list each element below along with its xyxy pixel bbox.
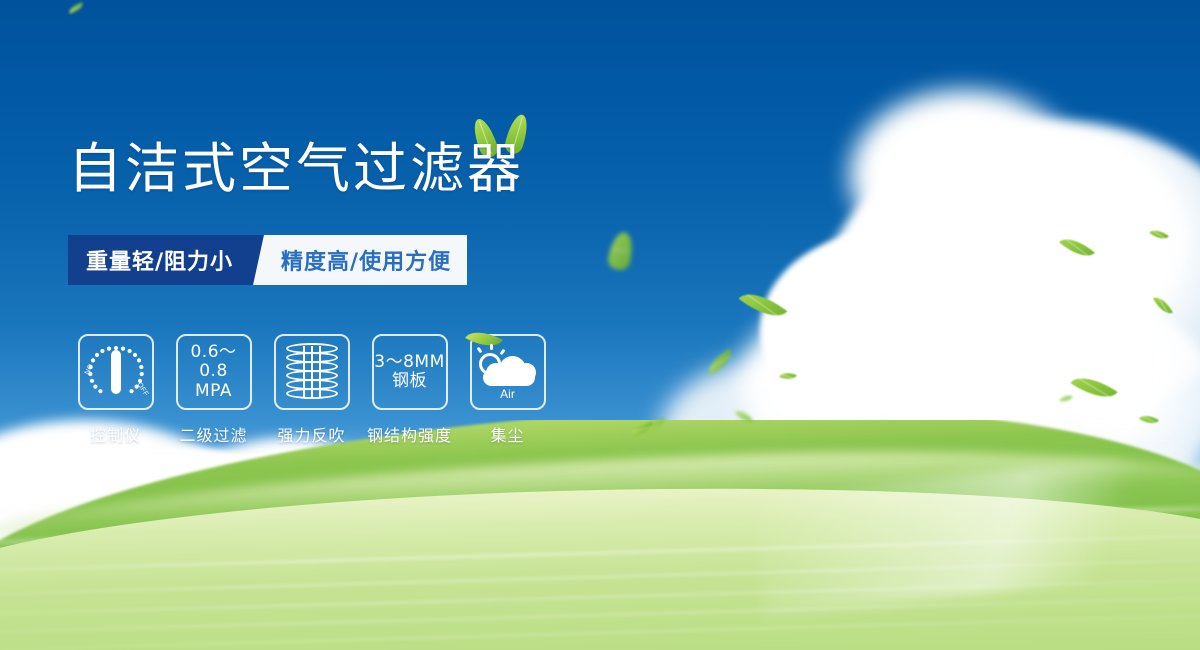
feature-icon-box	[274, 334, 350, 410]
feature-label: 二级过滤	[179, 422, 247, 446]
steel-material: 钢板	[374, 372, 444, 391]
grass-field	[0, 420, 1200, 650]
cloud-base	[483, 369, 535, 386]
subtitle-divider	[253, 235, 279, 285]
feature-item-controller[interactable]: NO OFF 控制仪	[68, 334, 163, 446]
feature-item-backblow[interactable]: 强力反吹	[264, 334, 359, 446]
pressure-unit: MPA	[178, 382, 250, 401]
feature-item-secondary-filter[interactable]: 0.6～0.8 MPA 二级过滤	[166, 334, 261, 446]
feature-label: 集尘	[490, 422, 524, 446]
pressure-text-icon: 0.6～0.8 MPA	[178, 343, 250, 400]
feature-label: 强力反吹	[277, 422, 345, 446]
subtitle-right: 精度高/使用方便	[279, 235, 467, 285]
coil-bar	[319, 346, 321, 398]
steel-plate-text-icon: 3～8MM 钢板	[374, 353, 444, 391]
sun-ray	[476, 347, 482, 354]
feature-item-dust-collection[interactable]: Air 集尘	[460, 334, 555, 446]
coil-filter-icon	[286, 343, 338, 401]
page-title: 自洁式空气过滤器	[68, 142, 524, 196]
feature-icon-box: 0.6～0.8 MPA	[176, 334, 252, 410]
subtitle-bar: 重量轻/阻力小 精度高/使用方便	[68, 235, 467, 285]
product-banner: 自洁式空气过滤器 重量轻/阻力小 精度高/使用方便	[0, 0, 1200, 650]
feature-icon-box: NO OFF	[78, 334, 154, 410]
feature-icon-box: Air	[470, 334, 546, 410]
feature-label: 控制仪	[90, 422, 141, 446]
subtitle-left: 重量轻/阻力小	[68, 235, 253, 285]
feature-icon-box: 3～8MM 钢板	[372, 334, 448, 410]
sun-ray	[490, 344, 493, 350]
coil-bar	[311, 346, 313, 398]
cloud-air-icon: Air	[477, 343, 539, 401]
pressure-range: 0.6～0.8	[178, 343, 250, 381]
steel-thickness: 3～8MM	[374, 353, 444, 372]
coil-bar	[303, 346, 305, 398]
sun-ray	[499, 349, 505, 356]
feature-list: NO OFF 控制仪 0.6～0.8 MPA 二级过滤	[68, 334, 555, 446]
gauge-needle	[111, 350, 121, 395]
gauge-icon: NO OFF	[84, 341, 148, 403]
feature-label: 钢结构强度	[367, 422, 452, 446]
air-label: Air	[477, 387, 539, 401]
feature-item-steel-strength[interactable]: 3～8MM 钢板 钢结构强度	[362, 334, 457, 446]
